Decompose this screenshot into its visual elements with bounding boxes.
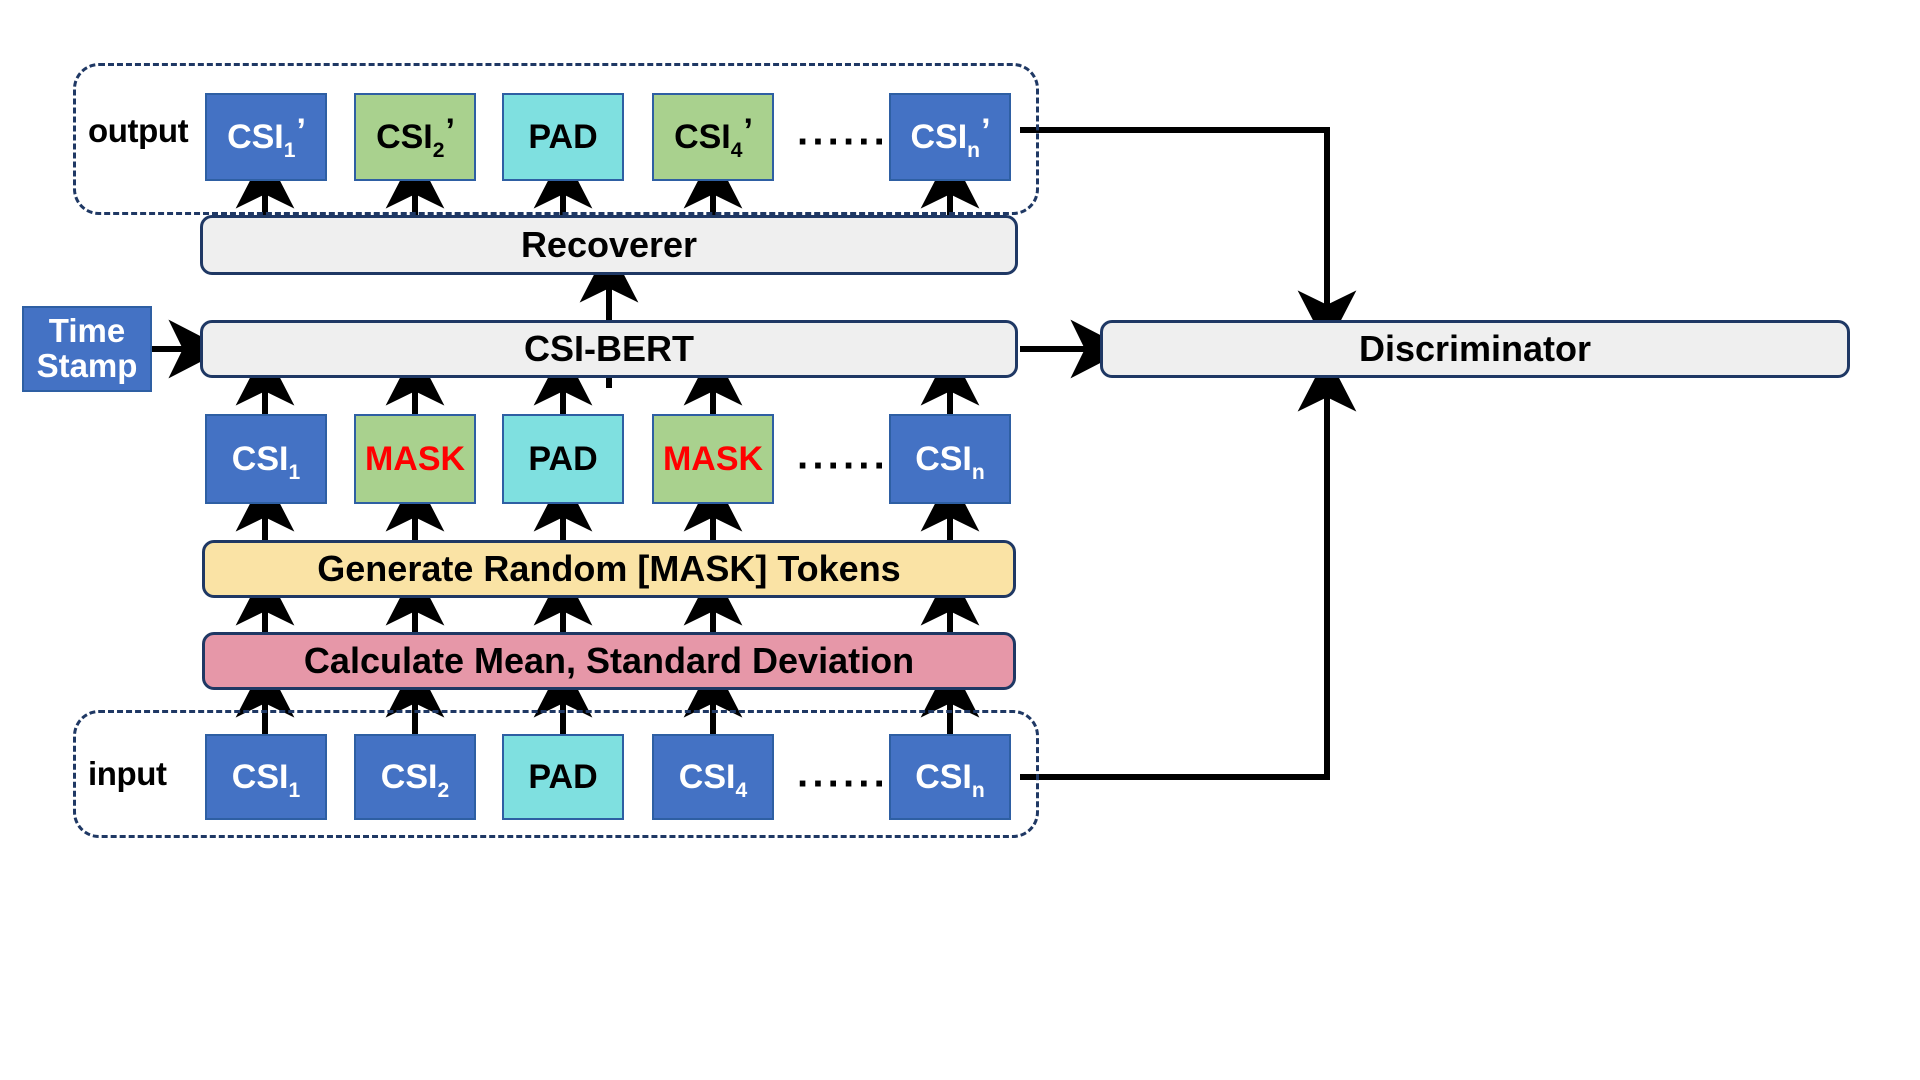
recoverer-label: Recoverer — [521, 224, 697, 266]
masked-ellipsis: ······ — [797, 444, 889, 489]
output-token-csi2-label: CSI2’ — [376, 120, 454, 154]
discriminator-label: Discriminator — [1359, 328, 1591, 370]
masked-token-pad[interactable]: PAD — [502, 414, 624, 504]
csi-bert-label: CSI-BERT — [524, 328, 694, 370]
output-token-pad[interactable]: PAD — [502, 93, 624, 181]
diagram-canvas: output CSI1’ CSI2’ PAD CSI4’ ······ CSIn… — [0, 0, 1920, 1080]
calculate-stats-label: Calculate Mean, Standard Deviation — [304, 640, 914, 682]
output-token-csi1-label: CSI1’ — [227, 120, 305, 154]
output-token-csin-label: CSIn’ — [910, 120, 989, 154]
masked-token-pad-label: PAD — [528, 442, 597, 476]
output-ellipsis: ······ — [797, 120, 889, 165]
generate-mask-bar[interactable]: Generate Random [MASK] Tokens — [202, 540, 1016, 598]
masked-token-mask-1-label: MASK — [365, 442, 465, 476]
input-token-csi2[interactable]: CSI2 — [354, 734, 476, 820]
output-token-pad-label: PAD — [528, 120, 597, 154]
output-token-csin[interactable]: CSIn’ — [889, 93, 1011, 181]
input-token-pad-label: PAD — [528, 760, 597, 794]
output-token-csi1[interactable]: CSI1’ — [205, 93, 327, 181]
masked-token-csi1[interactable]: CSI1 — [205, 414, 327, 504]
input-token-csi2-label: CSI2 — [381, 760, 449, 794]
masked-token-csin[interactable]: CSIn — [889, 414, 1011, 504]
time-stamp-line1: Time — [49, 314, 125, 349]
calculate-stats-bar[interactable]: Calculate Mean, Standard Deviation — [202, 632, 1016, 690]
input-token-csi1[interactable]: CSI1 — [205, 734, 327, 820]
input-token-csin[interactable]: CSIn — [889, 734, 1011, 820]
time-stamp-box[interactable]: Time Stamp — [22, 306, 152, 392]
masked-token-csin-label: CSIn — [915, 442, 985, 476]
input-token-pad[interactable]: PAD — [502, 734, 624, 820]
time-stamp-line2: Stamp — [37, 349, 138, 384]
output-token-csi4[interactable]: CSI4’ — [652, 93, 774, 181]
input-ellipsis: ······ — [797, 762, 889, 807]
recoverer-bar[interactable]: Recoverer — [200, 215, 1018, 275]
discriminator-bar[interactable]: Discriminator — [1100, 320, 1850, 378]
output-token-csi2[interactable]: CSI2’ — [354, 93, 476, 181]
input-token-csi1-label: CSI1 — [232, 760, 300, 794]
output-group-label: output — [88, 112, 188, 150]
generate-mask-label: Generate Random [MASK] Tokens — [317, 548, 900, 590]
input-token-csi4[interactable]: CSI4 — [652, 734, 774, 820]
masked-token-mask-1[interactable]: MASK — [354, 414, 476, 504]
csi-bert-bar[interactable]: CSI-BERT — [200, 320, 1018, 378]
output-token-csi4-label: CSI4’ — [674, 120, 752, 154]
input-token-csin-label: CSIn — [915, 760, 985, 794]
masked-token-csi1-label: CSI1 — [232, 442, 300, 476]
input-token-csi4-label: CSI4 — [679, 760, 747, 794]
masked-token-mask-2-label: MASK — [663, 442, 763, 476]
masked-token-mask-2[interactable]: MASK — [652, 414, 774, 504]
input-group-label: input — [88, 755, 167, 793]
